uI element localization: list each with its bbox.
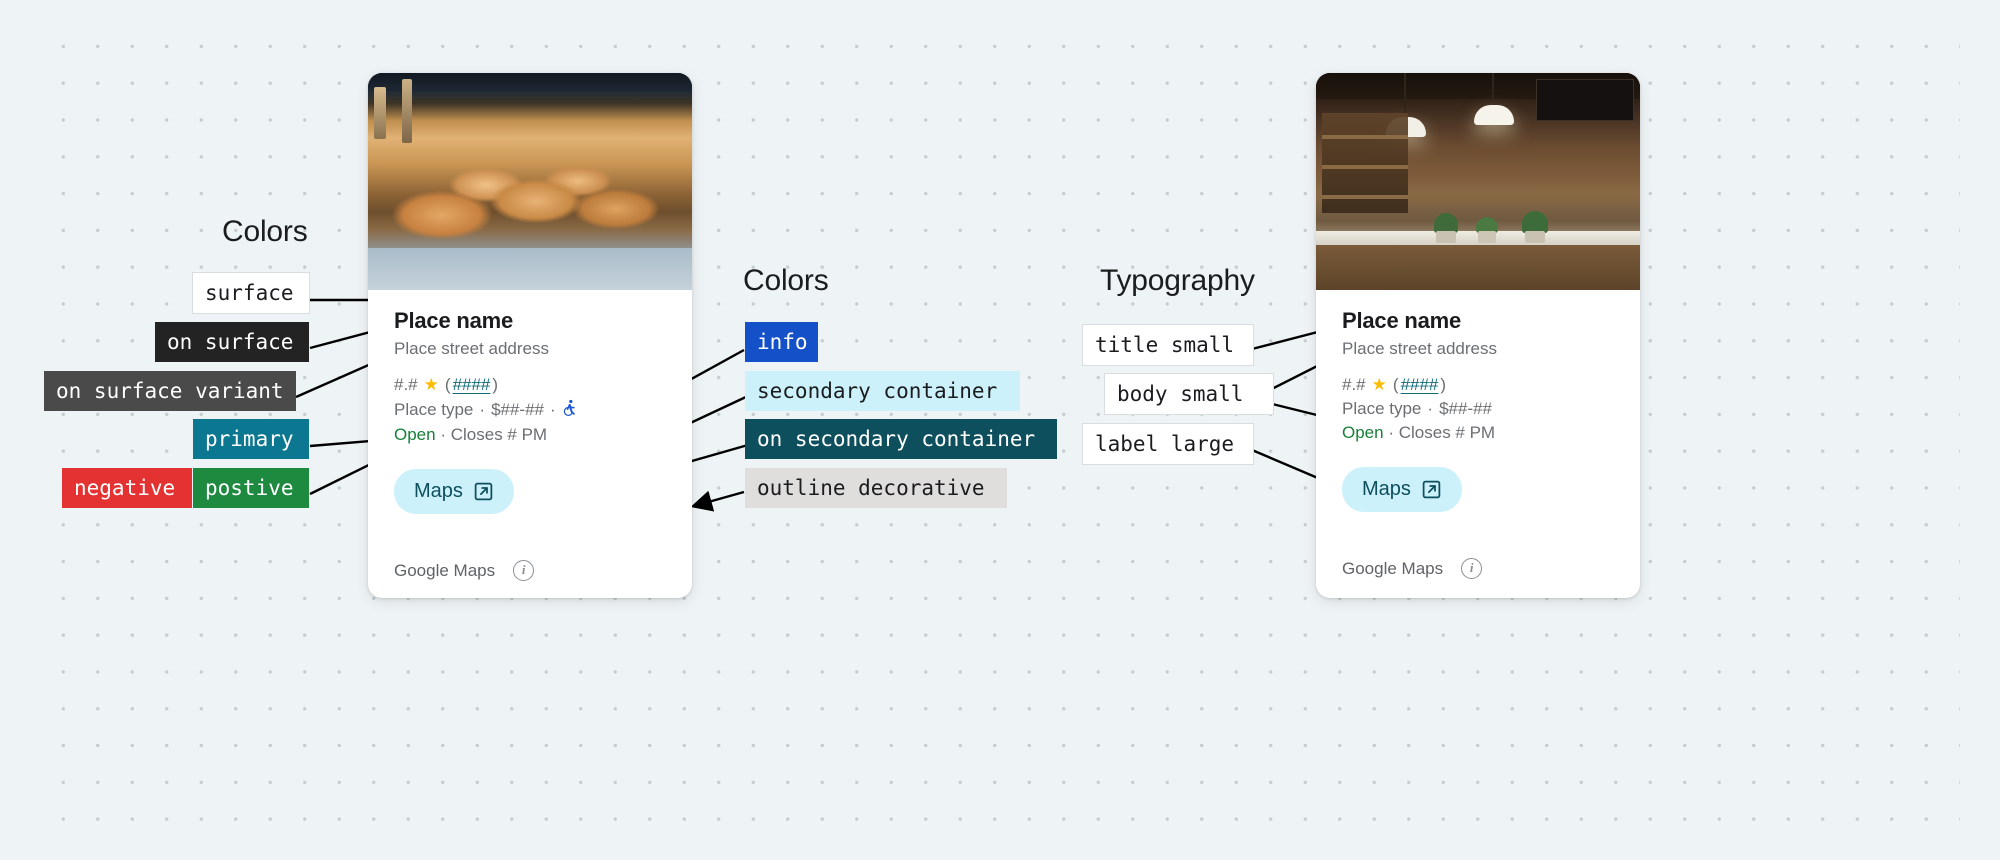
place-name: Place name <box>394 308 666 334</box>
color-swatch-label: on surface <box>167 322 293 362</box>
price-range: $##-## <box>491 400 544 420</box>
color-swatch-outline-decorative[interactable]: outline decorative <box>745 468 1007 508</box>
open-status: Open <box>394 425 436 444</box>
rating-row: #.# ★ (####) <box>394 375 666 395</box>
meta-separator-1: · <box>479 400 485 420</box>
external-link-icon <box>473 481 494 502</box>
color-swatch-secondary-container[interactable]: secondary container <box>745 371 1020 411</box>
place-address: Place street address <box>394 339 666 359</box>
color-swatch-on-surface-variant[interactable]: on surface variant <box>44 371 296 411</box>
google-maps-label: Google Maps <box>394 561 495 581</box>
open-separator: · <box>440 425 446 444</box>
section-title-colors-mid: Colors <box>743 264 829 298</box>
rating-value: #.# <box>1342 375 1366 395</box>
color-swatch-negative[interactable]: negative <box>62 468 192 508</box>
place-card-left[interactable]: Place name Place street address #.# ★ (#… <box>368 73 692 598</box>
cafe-photo <box>1316 73 1640 290</box>
section-title-typography: Typography <box>1100 264 1255 298</box>
closes-text: Closes # PM <box>451 425 547 444</box>
color-swatch-label: outline decorative <box>757 468 985 508</box>
card-body: Place name Place street address #.# ★ (#… <box>1316 290 1640 512</box>
place-card-right[interactable]: Place name Place street address #.# ★ (#… <box>1316 73 1640 598</box>
color-swatch-label: primary <box>205 419 294 459</box>
wheelchair-icon <box>562 399 579 421</box>
bakery-photo <box>368 73 692 290</box>
info-icon[interactable]: i <box>513 560 534 581</box>
maps-button[interactable]: Maps <box>1342 467 1462 512</box>
typography-swatch-label-large[interactable]: label large <box>1083 424 1253 464</box>
maps-button-label: Maps <box>414 480 463 503</box>
star-icon: ★ <box>1372 375 1387 395</box>
maps-button[interactable]: Maps <box>394 469 514 514</box>
open-status-row: Open · Closes # PM <box>394 425 666 445</box>
place-name: Place name <box>1342 308 1614 334</box>
color-swatch-surface[interactable]: surface <box>193 273 309 313</box>
review-count-link[interactable]: #### <box>453 375 491 395</box>
place-meta-row: Place type · $##-## · <box>394 399 666 421</box>
review-count-link[interactable]: #### <box>1401 375 1439 395</box>
typography-swatch-label: label large <box>1095 424 1234 464</box>
typography-swatch-title-small[interactable]: title small <box>1083 325 1253 365</box>
color-swatch-info[interactable]: info <box>745 322 818 362</box>
section-title-colors-left: Colors <box>222 215 308 249</box>
card-footer: Google Maps i <box>368 540 692 598</box>
review-close-paren: ) <box>492 375 498 395</box>
review-close-paren: ) <box>1440 375 1446 395</box>
maps-button-label: Maps <box>1362 478 1411 501</box>
google-maps-label: Google Maps <box>1342 559 1443 579</box>
place-address: Place street address <box>1342 339 1614 359</box>
diagram-canvas: Colors surface on surface on surface var… <box>0 0 2000 860</box>
info-icon[interactable]: i <box>1461 558 1482 579</box>
card-body: Place name Place street address #.# ★ (#… <box>368 290 692 514</box>
rating-value: #.# <box>394 375 418 395</box>
color-swatch-on-surface[interactable]: on surface <box>155 322 309 362</box>
color-swatch-label: postive <box>205 468 294 508</box>
star-icon: ★ <box>424 375 439 395</box>
open-status: Open <box>1342 423 1384 442</box>
color-swatch-primary[interactable]: primary <box>193 419 309 459</box>
place-meta-row: Place type · $##-## <box>1342 399 1614 419</box>
meta-separator-1: · <box>1427 399 1433 419</box>
place-type: Place type <box>394 400 473 420</box>
card-footer: Google Maps i <box>1316 538 1640 598</box>
rating-row: #.# ★ (####) <box>1342 375 1614 395</box>
price-range: $##-## <box>1439 399 1492 419</box>
color-swatch-label: on surface variant <box>56 371 284 411</box>
color-swatch-label: negative <box>74 468 175 508</box>
color-swatch-label: surface <box>205 273 294 313</box>
review-open-paren: ( <box>445 375 451 395</box>
color-swatch-label: secondary container <box>757 371 997 411</box>
closes-text: Closes # PM <box>1399 423 1495 442</box>
color-swatch-label: on secondary container <box>757 419 1035 459</box>
typography-swatch-label: body small <box>1117 374 1243 414</box>
open-status-row: Open · Closes # PM <box>1342 423 1614 443</box>
external-link-icon <box>1421 479 1442 500</box>
typography-swatch-label: title small <box>1095 325 1234 365</box>
meta-separator-2: · <box>550 400 556 420</box>
review-open-paren: ( <box>1393 375 1399 395</box>
color-swatch-on-secondary-container[interactable]: on secondary container <box>745 419 1057 459</box>
color-swatch-label: info <box>757 322 808 362</box>
place-type: Place type <box>1342 399 1421 419</box>
typography-swatch-body-small[interactable]: body small <box>1105 374 1273 414</box>
color-swatch-postive[interactable]: postive <box>193 468 309 508</box>
open-separator: · <box>1388 423 1394 442</box>
